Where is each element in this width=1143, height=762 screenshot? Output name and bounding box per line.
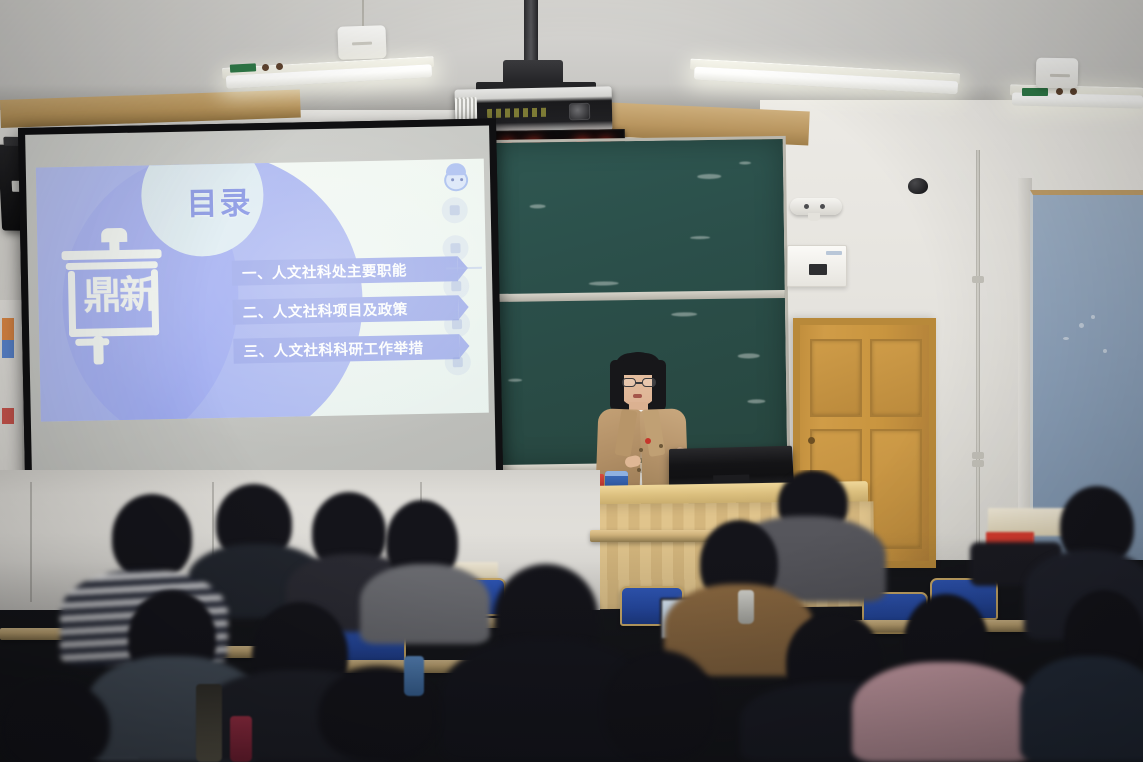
projector-lens-icon [569,103,590,120]
audience-head [604,650,716,762]
slide-logo: 鼎新 [61,227,178,369]
chalk-smudge [697,174,721,179]
tube-ballast-2 [1022,88,1048,96]
blackboard-divider [491,290,785,302]
audience-head [0,680,110,762]
access-point-wire [362,0,364,28]
board-mark [1103,349,1107,353]
slide-side-icon-column [441,197,475,388]
glasses-icon [642,378,656,387]
jacket-button [659,444,663,448]
sensor-stub [808,213,820,221]
conduit-clip [972,460,984,467]
audience-shoulders [852,662,1034,762]
monitor-screen-glare [669,446,793,466]
slide-logo-text: 鼎新 [72,275,167,315]
toc-item-2: 二、人文社科项目及政策 [232,295,458,325]
wall-marker-red [2,408,14,424]
tube-ballast-1 [230,63,256,72]
presenter-mouth [633,394,642,398]
gear-icon [444,311,471,338]
door-panel [870,339,922,417]
glasses-icon [622,378,636,387]
door-knob-icon[interactable] [808,437,815,444]
chalk-smudge [589,281,619,285]
classroom-scene: 16:01 [0,0,1143,762]
wall-seam [30,482,32,602]
wall-control-box[interactable] [787,245,847,287]
water-bottle [404,656,424,696]
toc-item-1: 一、人文社科处主要职能 [232,256,458,286]
audience-shoulders [360,564,490,644]
projector-label [487,108,547,118]
door-panel [810,339,862,417]
water-bottle [196,684,222,762]
lapel-pin-icon [645,438,651,444]
chalk-smudge [739,161,751,164]
slide-toc-list: 一、人文社科处主要职能 二、人文社科项目及政策 三、人文社科科研工作举措 [232,256,460,378]
tube-dot-1 [262,64,269,71]
chalk-smudge [690,236,710,239]
snowman-mascot-icon [442,163,471,196]
conduit-clip [972,276,984,283]
clock-icon [441,197,468,224]
board-mark [1079,323,1084,328]
slide-title: 目录 [186,177,253,223]
sensor-dot-icon [804,204,809,209]
grid-icon [443,273,470,300]
wall-marker-blue [2,340,14,358]
chalk-smudge [508,379,522,382]
wifi-access-point-2-icon [1036,58,1079,89]
mascot-eye [451,178,454,181]
wifi-access-point-icon [337,25,386,60]
audience-head [112,494,192,580]
wall-box-label [826,251,842,255]
audience-seating [0,470,1143,762]
tube-dot-4 [1070,88,1077,95]
sensor-dot-icon [820,204,825,209]
jacket-button [639,448,643,452]
document-icon [445,349,472,376]
tube-dot-3 [1056,88,1063,95]
audience-shoulders [1020,656,1143,762]
presentation-slide: 鼎新 目录 一、人文社科处主要职能 二、人文社科项目及政策 三、人文社科科研工作… [36,159,489,422]
toc-item-3: 三、人文社科科研工作举措 [233,334,459,364]
mascot-eye [460,178,463,181]
water-bottle [738,590,754,624]
tube-dot-2 [276,63,283,70]
wall-box-slot-icon [809,264,827,275]
wall-marker-orange [2,318,14,340]
projection-screen: 鼎新 目录 一、人文社科处主要职能 二、人文社科项目及政策 三、人文社科科研工作… [18,118,503,490]
glasses-bridge [636,382,642,384]
chalk-smudge [671,312,697,316]
water-bottle [230,716,252,762]
board-mark [1063,337,1069,340]
presenter-hair-left [610,360,624,412]
chalk-smudge [738,353,760,358]
chalk-smudge [530,204,546,208]
chalk-smudge [747,399,765,403]
board-mark [1091,315,1095,319]
mascot-cap [446,163,466,175]
conduit-clip [972,452,984,459]
security-camera-icon [908,178,928,194]
slide-icon-divider [446,267,482,270]
image-icon [442,235,469,262]
